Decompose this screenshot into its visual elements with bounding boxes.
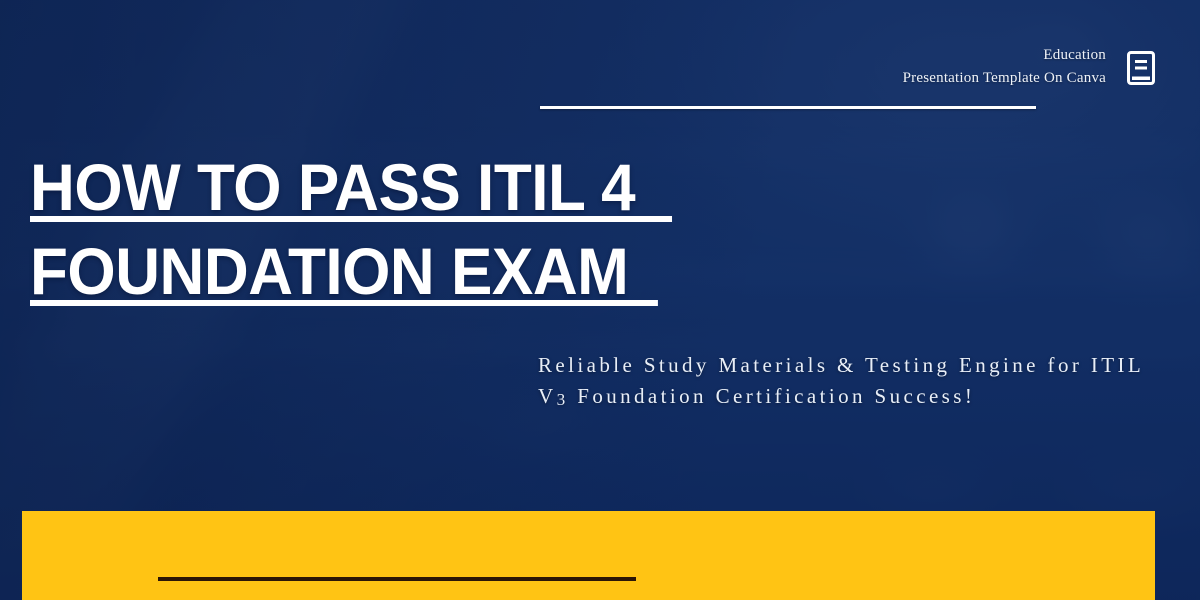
page-title: HOW TO PASS ITIL 4 FOUNDATION EXAM (30, 145, 730, 313)
subtitle: Reliable Study Materials & Testing Engin… (538, 350, 1168, 415)
header-line-2: Presentation Template On Canva (903, 67, 1106, 90)
headline-line-2-text: FOUNDATION EXAM (30, 234, 628, 308)
footer-divider-rule (158, 577, 636, 581)
header-line-1: Education (903, 44, 1106, 67)
slide-canvas: Education Presentation Template On Canva… (0, 0, 1200, 600)
headline-line-2: FOUNDATION EXAM (30, 229, 688, 313)
headline-underline-1 (30, 216, 672, 222)
subtitle-part-3: Foundation Certification Success! (569, 384, 976, 408)
header-block: Education Presentation Template On Canva (903, 44, 1156, 89)
headline-underline-2 (30, 300, 658, 306)
footer-accent-band (22, 511, 1155, 600)
subtitle-version-number: 3 (557, 390, 569, 409)
headline-line-1-text: HOW TO PASS ITIL 4 (30, 150, 635, 224)
headline-line-1: HOW TO PASS ITIL 4 (30, 145, 688, 229)
header-divider-rule (540, 106, 1036, 109)
header-caption: Education Presentation Template On Canva (903, 44, 1106, 89)
book-icon (1126, 50, 1156, 86)
